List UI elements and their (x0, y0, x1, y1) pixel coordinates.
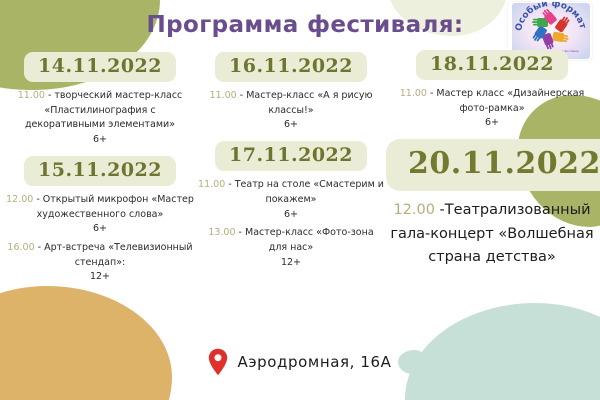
event-item: 13.00 - Мастер-класс «Фото-зона для нас»… (198, 226, 384, 270)
date-block: 16.11.202211.00 - Мастер-класс «А я рису… (198, 52, 384, 133)
event-time: 11.00 (18, 90, 45, 101)
event-item: 16.00 - Арт-встреча «Телевизионный стенд… (4, 241, 196, 285)
location-pin-icon (208, 348, 228, 376)
event-age-rating: 12+ (4, 270, 196, 285)
event-title: Открытый микрофон «Мастер художественног… (37, 194, 194, 220)
event-item: 12.00 -Театрализованный гала-концерт «Во… (386, 199, 598, 269)
event-dash: - (435, 202, 445, 218)
event-item: 11.00 - Мастер класс «Дизайнерская фото-… (386, 87, 598, 131)
event-list: 12.00 -Театрализованный гала-концерт «Во… (386, 199, 598, 269)
event-age-rating: 12+ (198, 256, 384, 271)
event-item: 12.00 - Открытый микрофон «Мастер художе… (4, 193, 196, 237)
program-column-3: 18.11.202211.00 - Мастер класс «Дизайнер… (386, 50, 598, 278)
date-badge: 14.11.2022 (24, 52, 176, 82)
date-block: 14.11.202211.00 - творческий мастер-клас… (4, 52, 196, 148)
date-block: 15.11.202212.00 - Открытый микрофон «Мас… (4, 156, 196, 285)
event-item: 11.00 - творческий мастер-класс «Пластил… (4, 89, 196, 148)
event-title: Театр на столе «Смастерим и покажем» (235, 179, 384, 205)
event-list: 11.00 - Театр на столе «Смастерим и пока… (198, 178, 384, 270)
event-dash: - (33, 194, 42, 205)
event-title: Арт-встреча «Телевизионный стендап»: (44, 242, 192, 268)
program-column-1: 14.11.202211.00 - творческий мастер-клас… (4, 52, 196, 293)
date-block: 20.11.202212.00 -Театрализованный гала-к… (386, 139, 598, 269)
event-dash: - (225, 179, 234, 190)
date-badge: 18.11.2022 (416, 50, 568, 80)
event-title: Мастер класс «Дизайнерская фото-рамка» (436, 88, 584, 114)
event-dash: - (35, 242, 44, 253)
page-title: Программа фестиваля: (140, 12, 470, 38)
festival-program-poster: Особый формат Всероссийский инклюзивный … (0, 0, 600, 400)
event-dash: - (45, 90, 54, 101)
event-list: 12.00 - Открытый микрофон «Мастер художе… (4, 193, 196, 285)
event-age-rating: 6+ (4, 222, 196, 237)
date-badge: 20.11.2022 (386, 139, 600, 191)
event-dash: - (427, 88, 436, 99)
venue-address-text: Аэродромная, 16А (237, 353, 391, 371)
date-block: 18.11.202211.00 - Мастер класс «Дизайнер… (386, 50, 598, 131)
event-item: 11.00 - Мастер-класс «А я рисую классы!»… (198, 89, 384, 133)
date-badge: 16.11.2022 (215, 52, 367, 82)
event-time: 11.00 (198, 179, 225, 190)
program-column-2: 16.11.202211.00 - Мастер-класс «А я рису… (198, 52, 384, 278)
event-age-rating: 6+ (198, 118, 384, 133)
date-badge: 15.11.2022 (24, 156, 176, 186)
event-time: 12.00 (393, 202, 435, 218)
event-time: 11.00 (210, 90, 237, 101)
event-dash: - (237, 90, 246, 101)
decorative-blob-gold-bottom-left (0, 286, 172, 400)
event-list: 11.00 - Мастер-класс «А я рисую классы!»… (198, 89, 384, 133)
venue-address-row: Аэродромная, 16А (150, 348, 450, 376)
event-time: 11.00 (400, 88, 427, 99)
date-badge: 17.11.2022 (215, 141, 367, 171)
event-list: 11.00 - творческий мастер-класс «Пластил… (4, 89, 196, 148)
event-title: Мастер-класс «Фото-зона для нас» (245, 227, 374, 253)
date-block: 17.11.202211.00 - Театр на столе «Смасте… (198, 141, 384, 270)
event-age-rating: 6+ (198, 208, 384, 223)
event-time: 16.00 (7, 242, 34, 253)
event-list: 11.00 - Мастер класс «Дизайнерская фото-… (386, 87, 598, 131)
event-age-rating: 6+ (386, 116, 598, 131)
event-dash: - (236, 227, 245, 238)
event-item: 11.00 - Театр на столе «Смастерим и пока… (198, 178, 384, 222)
event-age-rating: 6+ (4, 133, 196, 148)
event-time: 12.00 (6, 194, 33, 205)
event-title: Мастер-класс «А я рисую классы!» (246, 90, 372, 116)
event-time: 13.00 (208, 227, 235, 238)
